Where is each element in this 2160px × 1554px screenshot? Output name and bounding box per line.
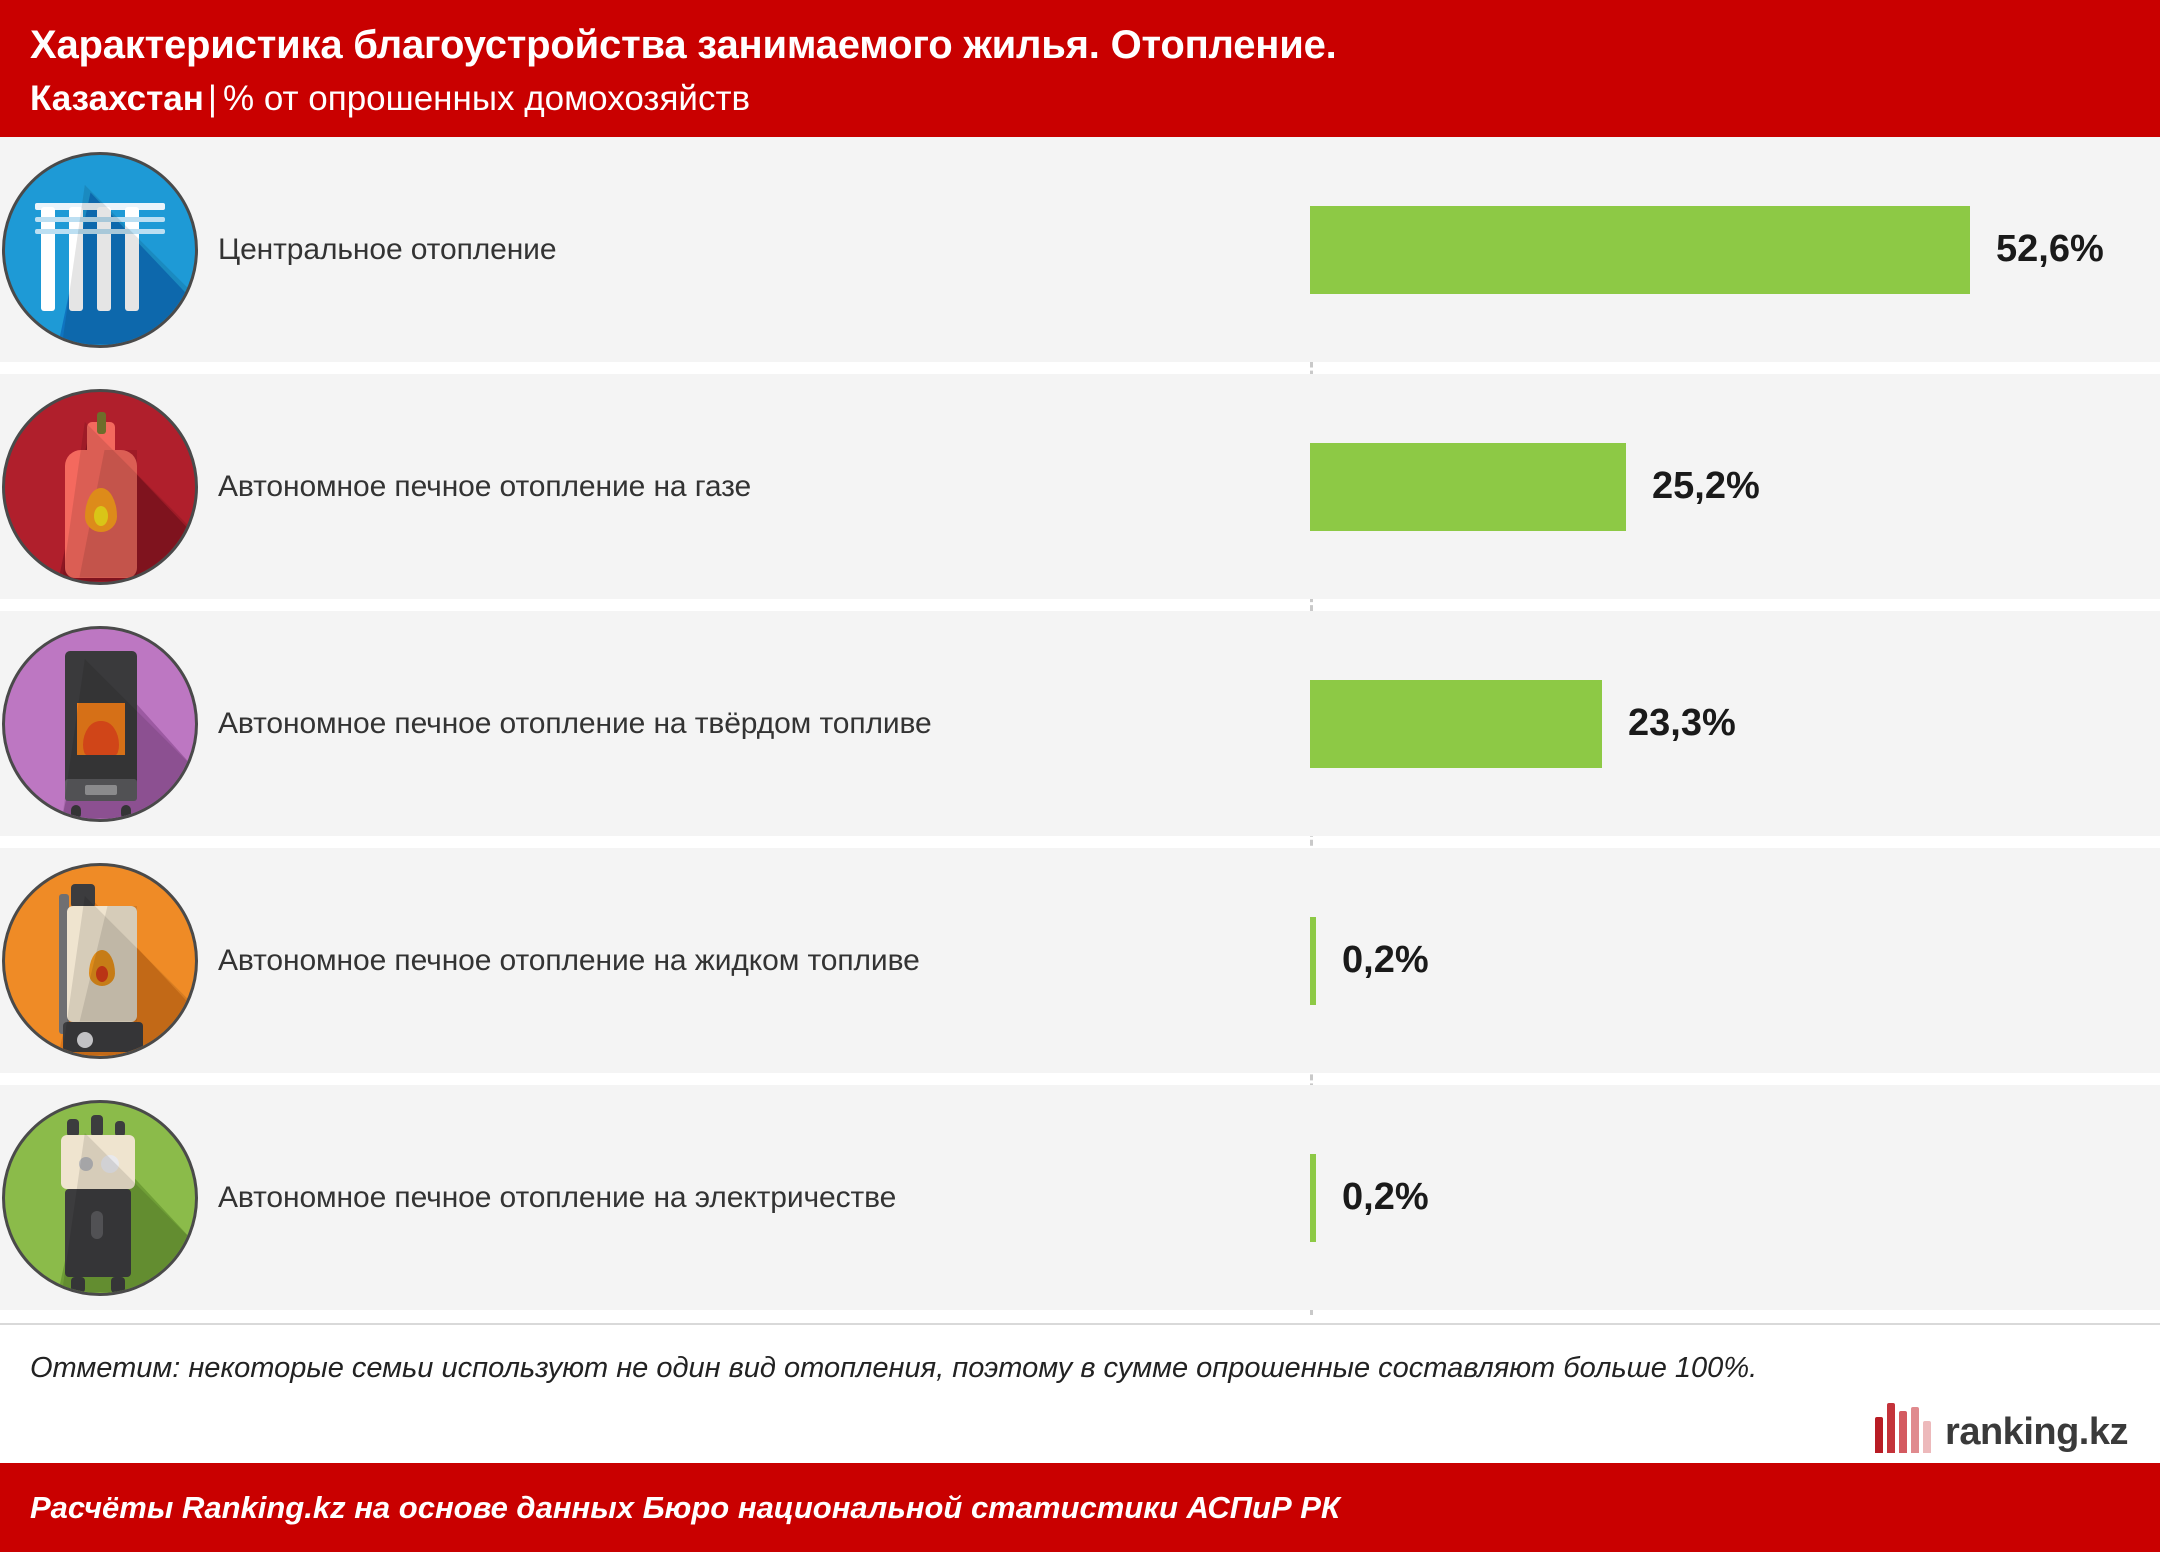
gas-cylinder-icon [2, 389, 198, 585]
subtitle-separator: | [204, 79, 223, 118]
subtitle-measure: % от опрошенных домохозяйств [223, 79, 750, 118]
page-title: Характеристика благоустройства занимаемо… [30, 22, 2160, 69]
bar-value-label: 23,3% [1602, 702, 1736, 745]
row-icon-cell [0, 626, 200, 822]
row-icon-cell [0, 152, 200, 348]
bar [1310, 206, 1970, 294]
logo-text: ranking.kz [1945, 1413, 2128, 1453]
chart-area: Центральное отопление 52,6% [0, 137, 2160, 1323]
row-icon-cell [0, 863, 200, 1059]
row-bar-cell: 23,3% [1310, 611, 1736, 836]
footnote-area: Отметим: некоторые семьи используют не о… [0, 1323, 2160, 1463]
bar-value-label: 52,6% [1970, 228, 2104, 271]
row-label: Автономное печное отопление на газе [200, 470, 751, 504]
wood-stove-icon [2, 626, 198, 822]
logo-bars-icon [1875, 1403, 1931, 1453]
table-row[interactable]: Автономное печное отопление на электриче… [0, 1085, 2160, 1310]
bar [1310, 443, 1626, 531]
ranking-kz-logo[interactable]: ranking.kz [1875, 1403, 2128, 1453]
header-banner: Характеристика благоустройства занимаемо… [0, 0, 2160, 137]
table-row[interactable]: Автономное печное отопление на газе 25,2… [0, 374, 2160, 599]
table-row[interactable]: Автономное печное отопление на твёрдом т… [0, 611, 2160, 836]
bar-value-label: 25,2% [1626, 465, 1760, 508]
row-label: Автономное печное отопление на твёрдом т… [200, 707, 932, 741]
radiator-icon [2, 152, 198, 348]
row-bar-cell: 52,6% [1310, 137, 2104, 362]
row-label: Автономное печное отопление на жидком то… [200, 944, 920, 978]
oil-boiler-icon [2, 863, 198, 1059]
footer-source-text: Расчёты Ranking.kz на основе данных Бюро… [30, 1490, 1340, 1526]
bar-rows: Центральное отопление 52,6% [0, 137, 2160, 1310]
electric-boiler-icon [2, 1100, 198, 1296]
row-label: Автономное печное отопление на электриче… [200, 1181, 896, 1215]
row-bar-cell: 0,2% [1310, 848, 1429, 1073]
row-icon-cell [0, 1100, 200, 1296]
row-bar-cell: 25,2% [1310, 374, 1760, 599]
footer-source-bar: Расчёты Ranking.kz на основе данных Бюро… [0, 1463, 2160, 1552]
table-row[interactable]: Автономное печное отопление на жидком то… [0, 848, 2160, 1073]
subtitle-country: Казахстан [30, 79, 204, 118]
bar [1310, 680, 1602, 768]
bar-value-label: 0,2% [1316, 939, 1429, 982]
row-icon-cell [0, 389, 200, 585]
table-row[interactable]: Центральное отопление 52,6% [0, 137, 2160, 362]
row-label: Центральное отопление [200, 233, 556, 267]
bar-value-label: 0,2% [1316, 1176, 1429, 1219]
footnote-text: Отметим: некоторые семьи используют не о… [30, 1347, 1810, 1389]
row-bar-cell: 0,2% [1310, 1085, 1429, 1310]
page-subtitle: Казахстан|% от опрошенных домохозяйств [30, 78, 2160, 119]
